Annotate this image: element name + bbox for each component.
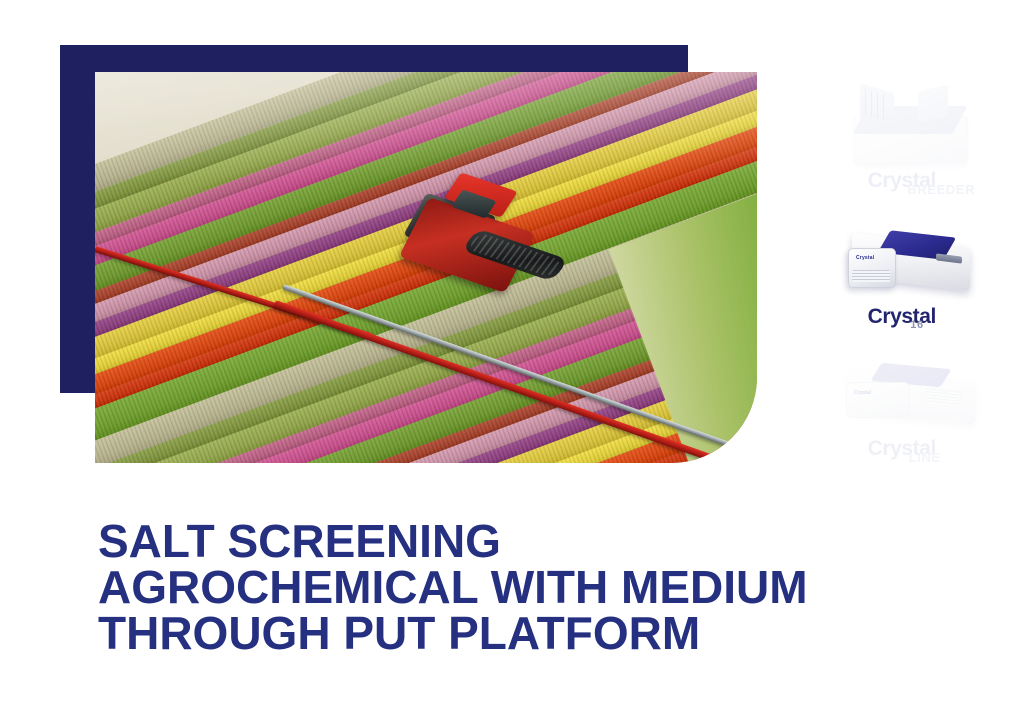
crystal-16-model: 16 [910, 320, 923, 331]
product-crystal-breeder[interactable]: Crystal BREEDER [812, 86, 1008, 214]
crystalline-device-label: Crystal [854, 390, 871, 396]
slide-headline: SALT SCREENING AGROCHEMICAL WITH MEDIUM … [98, 518, 958, 656]
headline-line-3: THROUGH PUT PLATFORM [98, 610, 958, 656]
crystal-16-brand: Crystal [868, 306, 936, 327]
headline-line-1: SALT SCREENING [98, 518, 958, 564]
slide-canvas: Crystal BREEDER Crystal Crystal 16 [0, 0, 1024, 701]
crystal-breeder-model: BREEDER [907, 183, 975, 196]
crystal-breeder-wordmark: Crystal BREEDER [812, 170, 1008, 206]
crystal16-front-door [848, 248, 896, 288]
crystal16-device-label: Crystal [856, 255, 874, 261]
crystal-line-model: LINE [909, 451, 941, 464]
crystal-breeder-device-icon [840, 86, 980, 164]
hero-image-tulip-field-sprayer [95, 72, 757, 463]
product-crystal-16[interactable]: Crystal Crystal 16 [812, 222, 1008, 350]
crystalline-front-door [846, 382, 910, 418]
crystal-16-wordmark: Crystal 16 [812, 306, 1008, 342]
crystal-line-device-icon: Crystal [840, 354, 980, 432]
crystal-line-wordmark: Crystal LINE [812, 438, 1008, 474]
headline-line-2: AGROCHEMICAL WITH MEDIUM [98, 564, 958, 610]
crystal-16-device-icon: Crystal [840, 222, 980, 300]
product-crystal-line[interactable]: Crystal Crystal LINE [812, 354, 1008, 482]
crystal16-front-grill [852, 270, 890, 282]
product-rail: Crystal BREEDER Crystal Crystal 16 [812, 86, 1008, 476]
